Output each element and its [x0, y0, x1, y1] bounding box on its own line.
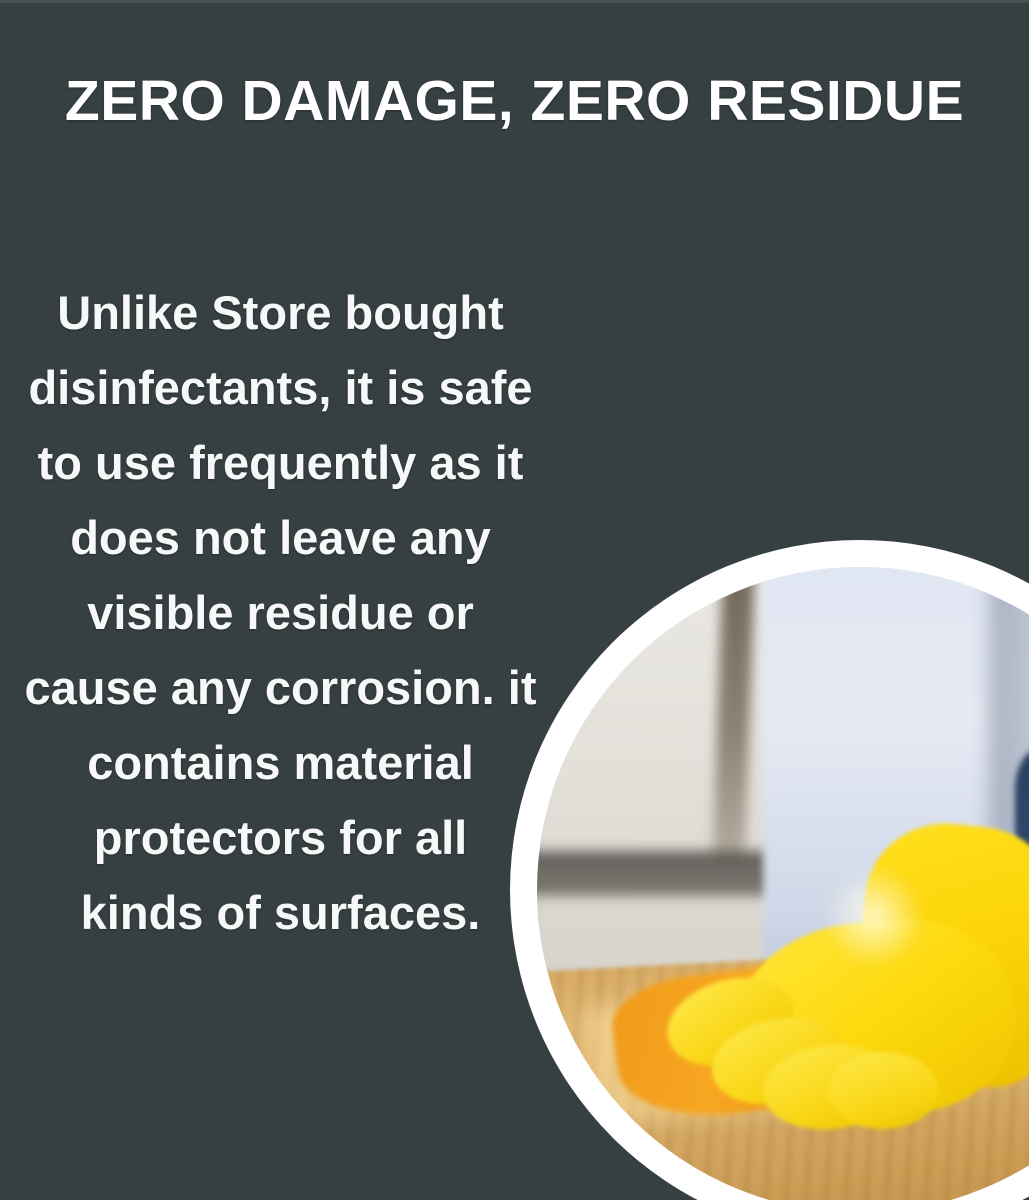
- promo-poster: ZERO DAMAGE, ZERO RESIDUE Unlike Store b…: [0, 0, 1029, 1200]
- body-line: contains material: [8, 725, 553, 800]
- circular-photo-frame: [510, 540, 1029, 1200]
- body-line: disinfectants, it is safe: [8, 350, 553, 425]
- body-line: does not leave any: [8, 500, 553, 575]
- body-line: kinds of surfaces.: [8, 875, 553, 950]
- body-line: visible residue or: [8, 575, 553, 650]
- glove-highlight: [821, 864, 924, 967]
- photo-scene: [537, 567, 1029, 1200]
- top-edge-divider: [0, 0, 1029, 3]
- page-title: ZERO DAMAGE, ZERO RESIDUE: [0, 72, 1029, 132]
- glove-finger: [828, 1052, 938, 1130]
- body-line: Unlike Store bought: [8, 275, 553, 350]
- body-line: to use frequently as it: [8, 425, 553, 500]
- body-line: cause any corrosion. it: [8, 650, 553, 725]
- body-paragraph: Unlike Store bought disinfectants, it is…: [8, 275, 553, 950]
- body-line: protectors for all: [8, 800, 553, 875]
- cleaning-photo: [537, 567, 1029, 1200]
